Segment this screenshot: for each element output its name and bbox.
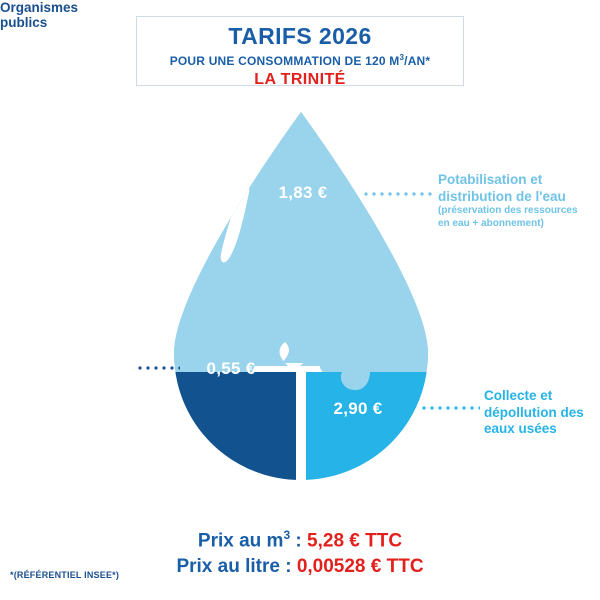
callout-collecte-line1: Collecte et — [484, 388, 600, 405]
callout-organismes: Organismes publics — [0, 0, 128, 30]
price-per-cubic-meter: Prix au m3 : 5,28 € TTC — [0, 522, 600, 554]
callout-potabilisation: Potabilisation et distribution de l'eau … — [438, 172, 598, 230]
droplet-svg: 1,83 € 0,55 € 2,90 € — [170, 108, 432, 484]
leader-dots-organismes — [136, 366, 180, 370]
callout-potabilisation-line2: distribution de l'eau — [438, 189, 598, 206]
callout-collecte-line2: dépollution des — [484, 405, 600, 422]
value-label-collecte: 2,90 € — [333, 399, 382, 418]
value-label-potabilisation: 1,83 € — [278, 183, 327, 202]
callout-collecte: Collecte et dépollution des eaux usées — [484, 388, 600, 438]
city-name: LA TRINITÉ — [137, 70, 463, 90]
price-litre-label: Prix au litre : — [176, 556, 296, 577]
callout-potabilisation-line1: Potabilisation et — [438, 172, 598, 189]
value-label-organismes: 0,55 € — [206, 359, 255, 378]
callout-collecte-line3: eaux usées — [484, 421, 600, 438]
price-m3-amount: 5,28 € TTC — [307, 530, 402, 551]
droplet-piece-potabilisation-shape[interactable] — [170, 108, 432, 366]
leader-dots-collecte — [420, 406, 480, 410]
page-title: TARIFS 2026 — [137, 24, 463, 49]
subtitle-suffix: /AN* — [404, 54, 430, 68]
callout-potabilisation-note2: en eau + abonnement) — [438, 218, 598, 231]
water-droplet-chart: 1,83 € 0,55 € 2,90 € — [170, 108, 432, 484]
title-box: TARIFS 2026 POUR UNE CONSOMMATION DE 120… — [136, 16, 464, 86]
droplet-piece-organismes[interactable] — [170, 372, 296, 484]
footnote: *(RÉFÉRENTIEL INSEE*) — [10, 570, 119, 580]
page-subtitle: POUR UNE CONSOMMATION DE 120 M3/AN* — [137, 49, 463, 70]
price-m3-separator: : — [290, 530, 307, 551]
price-m3-label: Prix au m — [198, 530, 284, 551]
droplet-piece-collecte[interactable] — [306, 372, 432, 484]
callout-potabilisation-note1: (préservation des ressources — [438, 205, 598, 218]
subtitle-prefix: POUR UNE CONSOMMATION DE 120 M — [170, 54, 400, 68]
price-litre-amount: 0,00528 € TTC — [297, 556, 424, 577]
leader-dots-potabilisation — [362, 192, 434, 196]
